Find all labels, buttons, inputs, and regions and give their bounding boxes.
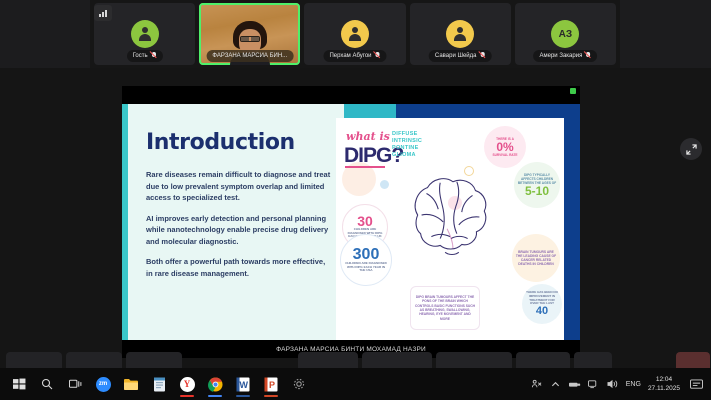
participant-name-pill: Перхам Абугои [323,50,386,62]
avatar-initials: АЗ [551,20,579,48]
start-button[interactable] [6,370,32,398]
clock[interactable]: 12:04 27.11.2025 [648,375,680,393]
system-tray: ENG 12:04 27.11.2025 [531,375,711,393]
usb-device-icon[interactable] [569,378,581,390]
presentation-slide: Introduction Rare diseases remain diffic… [122,104,580,358]
svg-text:W: W [240,380,249,390]
participant-tile-3[interactable]: Савари Шейда [410,3,511,65]
window-chip[interactable] [126,352,182,368]
participant-name-pill: Савари Шейда [429,50,492,62]
green-share-indicator [570,88,576,94]
volume-icon[interactable] [607,378,619,390]
participant-name: ФАРЗАНА МАРСИА БИН... [212,51,287,61]
taskbar-app-document[interactable] [146,370,172,398]
slide-body: Introduction Rare diseases remain diffic… [128,104,580,358]
word-icon: W [236,377,250,392]
window-preview-strip [0,350,711,368]
participant-tile-1[interactable]: ФАРЗАНА МАРСИА БИН... [199,3,300,65]
window-chip[interactable] [362,352,432,368]
clock-date: 27.11.2025 [648,384,680,393]
stat-value: 300 [353,247,380,262]
taskbar-app-zoom[interactable]: zm [90,370,116,398]
svg-text:P: P [269,380,275,390]
stat-value: 40 [536,306,548,317]
participant-filmstrip: Гость ФАРЗАНА МАРСИА БИН... Перхам Абуго… [90,0,620,68]
stat-caption-bottom: SURVIVAL RATE [492,153,517,157]
running-indicator [180,395,194,397]
signal-strength-icon [94,5,112,21]
infographic-underline [345,166,385,168]
participant-name: Савари Шейда [435,51,477,61]
taskbar-app-powerpoint[interactable]: P [258,370,284,398]
participant-tile-2[interactable]: Перхам Абугои [304,3,405,65]
screen-share-area: Introduction Rare diseases remain diffic… [0,68,711,368]
chrome-icon [208,377,223,392]
stat-bubble-leading-cause: BRAIN TUMOURS ARE THE LEADING CAUSE OF C… [512,234,560,282]
infographic-script-label: what is [346,130,390,143]
stat-bubble-us-cases: 300 CHILDREN ARE DIAGNOSED WITH DIPG EAC… [340,234,392,286]
yandex-icon: Y [180,377,195,392]
slide-paragraph: AI improves early detection and personal… [146,213,332,248]
slide-text-column: Introduction Rare diseases remain diffic… [128,104,344,358]
taskbar-app-word[interactable]: W [230,370,256,398]
avatar [131,20,159,48]
powerpoint-icon: P [264,377,278,392]
search-icon[interactable] [34,370,60,398]
taskbar-app-file-explorer[interactable] [118,370,144,398]
avatar [341,20,369,48]
show-hidden-icons-chevron[interactable] [550,378,562,390]
windows-taskbar: zm Y [0,368,711,400]
expand-arrows-icon[interactable] [680,138,702,160]
taskbar-app-chrome[interactable] [202,370,228,398]
window-chip[interactable] [66,352,122,368]
language-indicator[interactable]: ENG [626,381,641,388]
running-indicator [236,395,250,397]
participant-name: Гость [133,51,148,61]
participant-tile-4[interactable]: АЗ Амери Закария [515,3,616,65]
task-view-icon[interactable] [62,370,88,398]
mic-off-icon [375,52,381,60]
mic-off-icon [151,52,157,60]
stat-caption-bottom: BRAIN TUMOURS ARE THE LEADING CAUSE OF C… [515,250,557,267]
taskbar-app-settings[interactable] [286,370,312,398]
dipg-infographic: what is DIPG? DIFFUSE INTRINSIC PONTINE … [336,118,564,342]
slide-image-column: what is DIPG? DIFFUSE INTRINSIC PONTINE … [344,104,580,358]
participant-name: Амери Закария [540,51,583,61]
infographic-expansion: DIFFUSE INTRINSIC PONTINE GLIOMA [392,131,422,159]
folder-icon [123,377,139,391]
zoom-icon: zm [96,377,111,392]
stat-caption-bottom: DIPG BRAIN TUMOURS AFFECT THE PONS OF TH… [414,295,476,321]
running-indicator [208,395,222,397]
network-icon[interactable] [588,378,600,390]
stat-bubble-survival: THERE IS A 0% SURVIVAL RATE [484,126,526,168]
slide-paragraph: Rare diseases remain difficult to diagno… [146,169,332,204]
share-people-icon[interactable] [531,378,543,390]
stat-value: 5-10 [525,185,549,197]
window-chip[interactable] [574,352,612,368]
gear-icon [293,378,305,390]
stat-bubble-brain-stem: DIPG BRAIN TUMOURS AFFECT THE PONS OF TH… [410,286,480,330]
participant-name-pill: Гость [127,50,163,62]
decor-circle [380,180,389,189]
stat-bubble-age-range: DIPG TYPICALLY AFFECTS CHILDREN BETWEEN … [514,162,560,208]
taskbar-left-group: zm Y [0,370,312,398]
brain-outline-illustration [396,170,504,266]
stat-caption-bottom: CHILDREN ARE DIAGNOSED WITH DIPG EACH YE… [344,262,388,273]
stat-bubble-no-progress: THERE HAS BEEN NO IMPROVEMENT IN TREATME… [522,284,562,324]
running-indicator [264,395,278,397]
shared-slide-frame[interactable]: Introduction Rare diseases remain diffic… [122,86,580,358]
desktop-root: Гость ФАРЗАНА МАРСИА БИН... Перхам Абуго… [0,0,711,400]
participant-name: Перхам Абугои [329,51,371,61]
stat-value: 0% [496,141,513,153]
window-chip-active[interactable] [676,352,710,368]
window-chip[interactable] [436,352,512,368]
document-icon [153,377,166,392]
clock-time: 12:04 [648,375,680,384]
taskbar-app-yandex[interactable]: Y [174,370,200,398]
window-chip[interactable] [6,352,62,368]
stat-caption-top: THERE HAS BEEN NO IMPROVEMENT IN TREATME… [525,291,559,305]
mic-off-icon [585,52,591,60]
zoom-meeting-window: Гость ФАРЗАНА МАРСИА БИН... Перхам Абуго… [0,0,711,368]
mic-off-icon [479,52,485,60]
participant-name-pill: ФАРЗАНА МАРСИА БИН... [206,50,293,62]
avatar-initials-text: АЗ [559,29,573,40]
slide-paragraph: Both offer a powerful path towards more … [146,256,332,279]
avatar [446,20,474,48]
participant-name-pill: Амери Закария [534,50,598,62]
window-chip[interactable] [298,352,358,368]
slide-title: Introduction [146,130,332,155]
notification-center-icon[interactable] [687,376,705,392]
window-chip[interactable] [516,352,570,368]
